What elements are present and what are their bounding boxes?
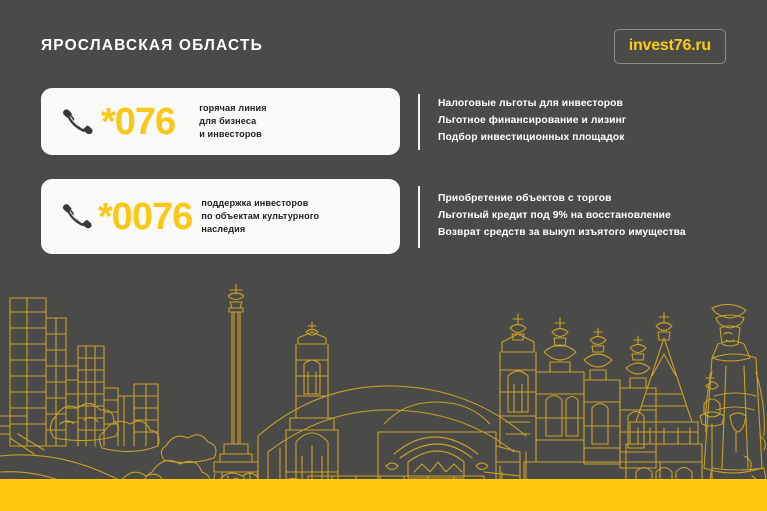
benefit-item: Приобретение объектов с торгов [438, 191, 745, 208]
hotline-row-2: *0076 поддержка инвесторов по объектам к… [41, 179, 745, 254]
invest76-logo-button[interactable]: invest76.ru [614, 29, 726, 64]
benefit-item: Налоговые льготы для инвесторов [438, 96, 745, 113]
demidov-pillar-monument [210, 284, 262, 511]
invest76-banner: ЯРОСЛАВСКАЯ ОБЛАСТЬ invest76.ru *076 гор… [0, 0, 767, 511]
hotline-card-076[interactable]: *076 горячая линия для бизнеса и инвесто… [41, 88, 400, 155]
footer-accent-bar [0, 479, 767, 511]
hotline-description-line: по объектам культурного [201, 210, 319, 223]
yaroslav-the-wise-monument [694, 304, 767, 508]
hotline-description-line: наследия [201, 223, 319, 236]
hotline-description-line: для бизнеса [199, 115, 266, 128]
phone-handset-icon [59, 200, 92, 233]
benefits-list-1: Налоговые льготы для инвесторов Льготное… [438, 96, 745, 146]
benefit-item: Подбор инвестиционных площадок [438, 130, 745, 147]
invest76-logo-label: invest76.ru [629, 38, 711, 54]
hotline-description: поддержка инвесторов по объектам культур… [201, 197, 319, 236]
row-divider [418, 94, 420, 150]
hotline-description-line: и инвесторов [199, 128, 266, 141]
benefit-item: Льготное финансирование и лизинг [438, 113, 745, 130]
hotline-row-1: *076 горячая линия для бизнеса и инвесто… [41, 88, 745, 155]
benefit-item: Возврат средств за выкуп изъятого имущес… [438, 225, 745, 242]
hotline-description-line: горячая линия [199, 102, 266, 115]
yaroslavl-skyline-illustration [0, 276, 767, 511]
page-title: ЯРОСЛАВСКАЯ ОБЛАСТЬ [41, 38, 263, 54]
hotline-number: *076 [101, 103, 175, 141]
benefit-item: Льготный кредит под 9% на восстановление [438, 208, 745, 225]
hotline-description-line: поддержка инвесторов [201, 197, 319, 210]
hotline-number: *0076 [98, 198, 192, 236]
high-rise-buildings [0, 298, 158, 446]
banner-header: ЯРОСЛАВСКАЯ ОБЛАСТЬ invest76.ru [41, 26, 726, 66]
hotline-description: горячая линия для бизнеса и инвесторов [199, 102, 266, 141]
phone-handset-icon [59, 105, 93, 139]
hotline-card-0076[interactable]: *0076 поддержка инвесторов по объектам к… [41, 179, 400, 254]
benefits-list-2: Приобретение объектов с торгов Льготный … [438, 191, 745, 241]
row-divider [418, 186, 420, 248]
